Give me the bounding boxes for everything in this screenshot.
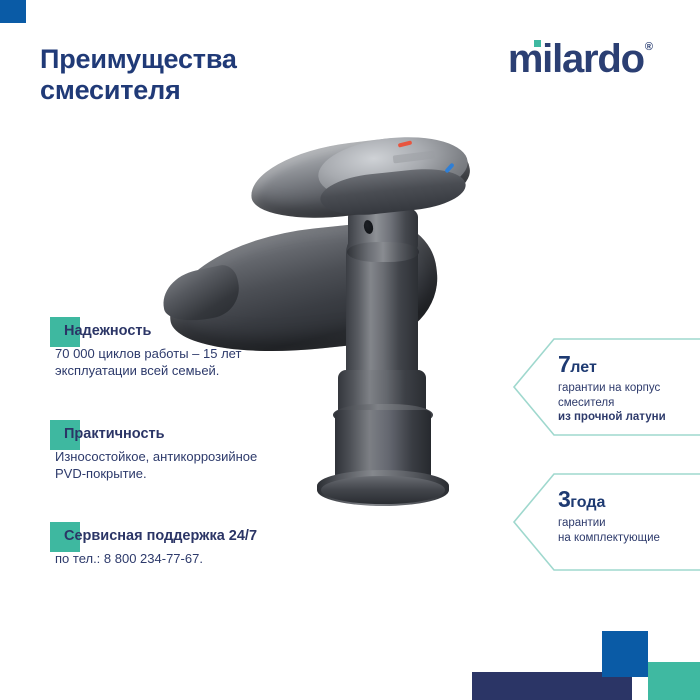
feature-item-service-support: Сервисная поддержка 24/7 по тел.: 8 800 … — [50, 522, 257, 567]
badge-content: 7лет гарантии на корпус смесителя из про… — [558, 352, 690, 425]
feature-description-line: PVD-покрытие. — [55, 465, 257, 482]
page-title: Преимущества смесителя — [40, 44, 340, 106]
badge-description-line: смесителя — [558, 396, 690, 411]
brand-logo-registered-mark: ® — [645, 41, 653, 53]
badge-number: 3 — [558, 486, 570, 512]
badge-description-line: на комплектующие — [558, 531, 690, 546]
badge-unit: года — [570, 494, 605, 511]
feature-description-line: Износостойкое, антикоррозийное — [55, 448, 257, 465]
badge-description-line: гарантии — [558, 516, 690, 531]
feature-description: 70 000 циклов работы – 15 лет эксплуатац… — [55, 345, 241, 379]
badge-headline: 7лет — [558, 352, 690, 379]
feature-item-practicality: Практичность Износостойкое, антикоррозий… — [50, 420, 257, 482]
infographic-canvas: Преимущества смесителя milardo ® Надежно… — [0, 0, 700, 700]
page-title-line-2: смесителя — [40, 75, 340, 106]
feature-title: Надежность — [64, 317, 241, 340]
corner-accent-block — [0, 0, 26, 23]
feature-description-line: 70 000 циклов работы – 15 лет — [55, 345, 241, 362]
decor-block-teal — [648, 662, 700, 700]
feature-description-line: по тел.: 8 800 234-77-67. — [55, 550, 257, 567]
faucet-base-flange-inner — [321, 476, 445, 504]
feature-description: Износостойкое, антикоррозийное PVD-покры… — [55, 448, 257, 482]
badge-description-emphasis: из прочной латуни — [558, 410, 690, 425]
badge-unit: лет — [570, 359, 596, 376]
brand-logo-dot-icon — [534, 40, 541, 47]
guarantee-badge-components: 3года гарантии на комплектующие — [512, 473, 700, 571]
badge-description-line: гарантии на корпус — [558, 381, 690, 396]
page-title-line-1: Преимущества — [40, 44, 340, 75]
feature-description: по тел.: 8 800 234-77-67. — [55, 550, 257, 567]
badge-description: гарантии на корпус смесителя из прочной … — [558, 381, 690, 425]
badge-number: 7 — [558, 351, 570, 377]
feature-item-reliability: Надежность 70 000 циклов работы – 15 лет… — [50, 317, 241, 379]
guarantee-badge-body: 7лет гарантии на корпус смесителя из про… — [512, 338, 700, 436]
badge-headline: 3года — [558, 487, 690, 514]
brand-logo-wordmark: milardo — [508, 38, 644, 80]
feature-description-line: эксплуатации всей семьей. — [55, 362, 241, 379]
decor-block-blue — [602, 631, 648, 677]
badge-content: 3года гарантии на комплектующие — [558, 487, 690, 545]
brand-logo: milardo ® — [508, 38, 653, 80]
badge-description: гарантии на комплектующие — [558, 516, 690, 545]
product-image-faucet — [150, 120, 530, 470]
faucet-collar-ring — [347, 242, 419, 262]
feature-title: Практичность — [64, 420, 257, 443]
feature-title: Сервисная поддержка 24/7 — [64, 522, 257, 545]
